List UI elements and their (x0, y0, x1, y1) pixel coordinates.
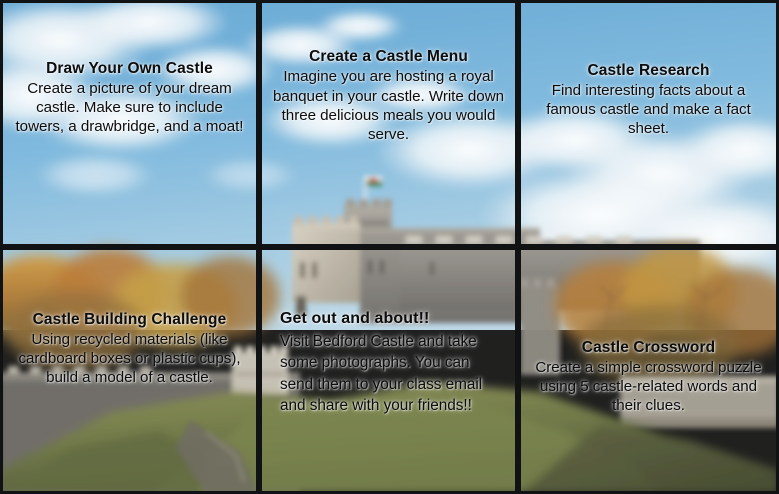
card-body: Create a picture of your dream castle. M… (13, 79, 246, 136)
card-title: Castle Crossword (531, 338, 766, 358)
card-title: Get out and about!! (280, 309, 505, 329)
activity-grid: Draw Your Own Castle Create a picture of… (0, 0, 779, 494)
card-body: Create a simple crossword puzzle using 5… (531, 358, 766, 415)
card-body: Imagine you are hosting a royal banquet … (272, 67, 505, 144)
card-body-before: Imagine you are hosting a royal (283, 68, 493, 85)
card-body: Find interesting facts about a famous ca… (531, 81, 766, 138)
activity-card-castle-building-challenge[interactable]: Castle Building Challenge Using recycled… (0, 247, 259, 494)
activity-card-castle-crossword[interactable]: Castle Crossword Create a simple crosswo… (518, 247, 779, 494)
activity-card-draw-your-own-castle[interactable]: Draw Your Own Castle Create a picture of… (0, 0, 259, 247)
card-body: Using recycled materials (like cardboard… (13, 330, 246, 387)
card-title: Castle Research (531, 61, 766, 81)
card-title: Draw Your Own Castle (13, 59, 246, 79)
card-body: Visit Bedford Castle and take some photo… (280, 331, 505, 416)
activity-card-get-out-and-about[interactable]: Get out and about!! Visit Bedford Castle… (259, 247, 518, 494)
castle-activity-poster: Draw Your Own Castle Create a picture of… (0, 0, 779, 494)
card-body-highlight-banquet: banquet (273, 88, 328, 105)
activity-card-castle-research[interactable]: Castle Research Find interesting facts a… (518, 0, 779, 247)
card-title: Castle Building Challenge (13, 310, 246, 330)
card-title: Create a Castle Menu (272, 47, 505, 67)
activity-card-create-a-castle-menu[interactable]: Create a Castle Menu Imagine you are hos… (259, 0, 518, 247)
